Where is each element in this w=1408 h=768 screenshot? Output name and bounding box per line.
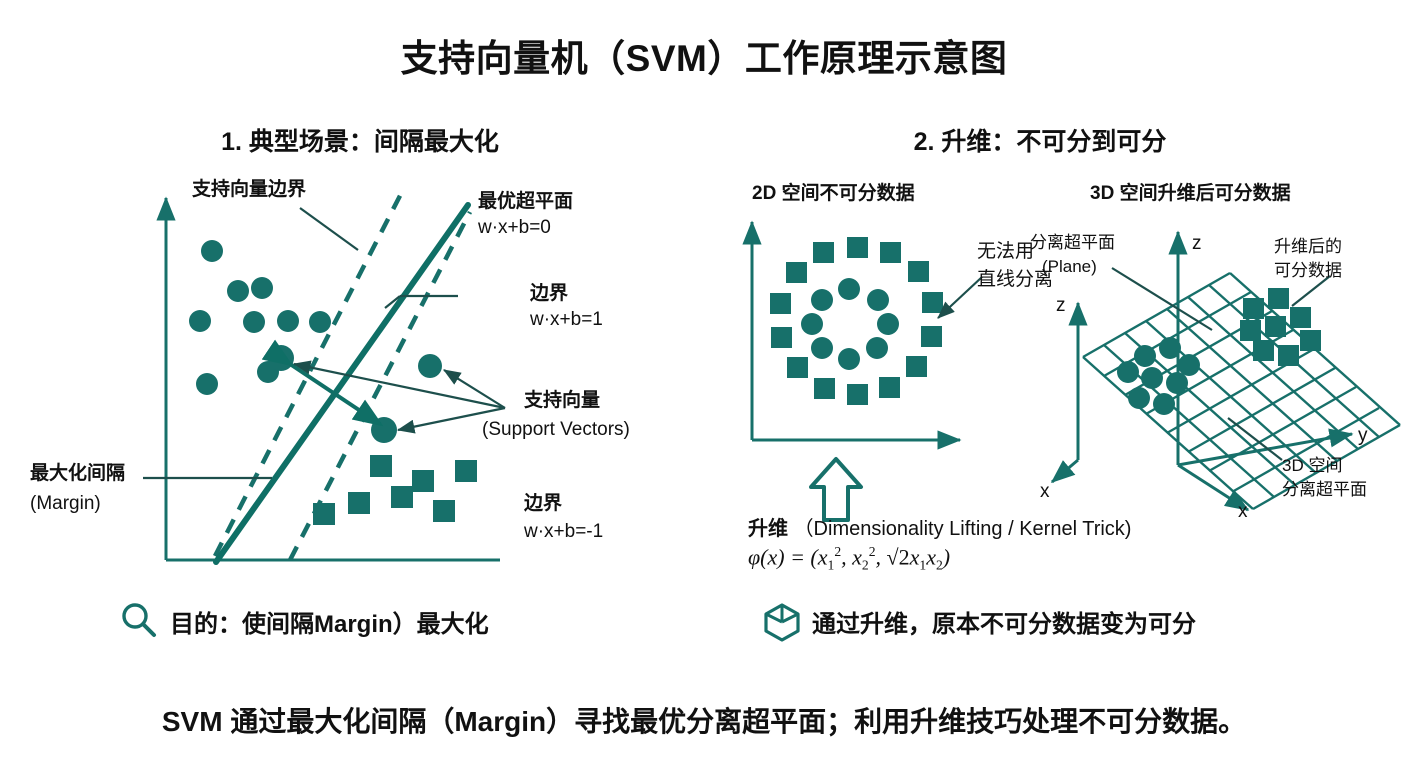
- axis-label-z: z: [1192, 232, 1202, 255]
- formula-term3b-sub: 2: [936, 558, 943, 573]
- formula-term3a: x: [910, 544, 920, 569]
- panel2-footer: 通过升维，原本不可分数据变为可分: [812, 604, 1196, 639]
- lifted-data-label-line1: 升维后的: [1274, 236, 1342, 257]
- lift-up-arrow-icon: [811, 459, 861, 520]
- panel2-footer-text: 通过升维，原本不可分数据变为可分: [812, 611, 1196, 638]
- plane3d-label-line1: 3D 空间: [1282, 455, 1342, 476]
- lifted-data-label-line2: 可分数据: [1274, 260, 1342, 281]
- axis-label-y: y: [1358, 424, 1368, 447]
- formula-sep-1: ,: [841, 544, 852, 569]
- lift-description: 升维 （Dimensionality Lifting / Kernel Tric…: [748, 512, 1131, 541]
- axis-label-x: x: [1238, 500, 1248, 523]
- plane-label-leader: [1112, 268, 1212, 330]
- cube-icon: [760, 600, 804, 644]
- panel2-outer-squares: [770, 237, 943, 405]
- panel1-footer-text: 目的：使间隔Margin）最大化: [170, 611, 489, 638]
- formula-close: ): [943, 544, 950, 569]
- axis-label-z2: z: [1056, 294, 1066, 317]
- formula-radical: √2: [887, 544, 910, 569]
- formula-term2-base: x: [852, 544, 862, 569]
- panel2-inner-circles: [801, 278, 899, 370]
- not-separable-leader: [938, 277, 982, 318]
- lift-label-en: （Dimensionality Lifting / Kernel Trick): [794, 518, 1132, 540]
- plane3d-label-line2: 分离超平面: [1282, 479, 1367, 500]
- formula-term2-sub: 2: [862, 558, 869, 573]
- formula-term3b: x: [926, 544, 936, 569]
- formula-term2-sup: 2: [869, 544, 876, 559]
- formula-phi: φ(x) = (: [748, 544, 818, 569]
- not-separable-label-line1: 无法用: [977, 240, 1034, 263]
- panel2-3d-circles: [1117, 337, 1200, 415]
- summary-caption: SVM 通过最大化间隔（Margin）寻找最优分离超平面；利用升维技巧处理不可分…: [0, 700, 1408, 740]
- axis-label-x2: x: [1040, 480, 1050, 503]
- diagram-root: 支持向量机（SVM）工作原理示意图 1. 典型场景：间隔最大化 2. 升维：不可…: [0, 0, 1408, 768]
- kernel-formula: φ(x) = (x12, x22, √2x1x2): [748, 544, 950, 574]
- formula-term1-base: x: [818, 544, 828, 569]
- lift-label-cn: 升维: [748, 518, 788, 540]
- magnifier-icon: [118, 600, 160, 640]
- panel1-footer: 目的：使间隔Margin）最大化: [170, 604, 489, 639]
- formula-sep-2: ,: [876, 544, 887, 569]
- panel2-canvas: [0, 0, 1408, 768]
- formula-term1-sub: 1: [828, 558, 835, 573]
- plane-label-cn: 分离超平面: [1030, 232, 1115, 253]
- plane-label-en: (Plane): [1042, 256, 1097, 277]
